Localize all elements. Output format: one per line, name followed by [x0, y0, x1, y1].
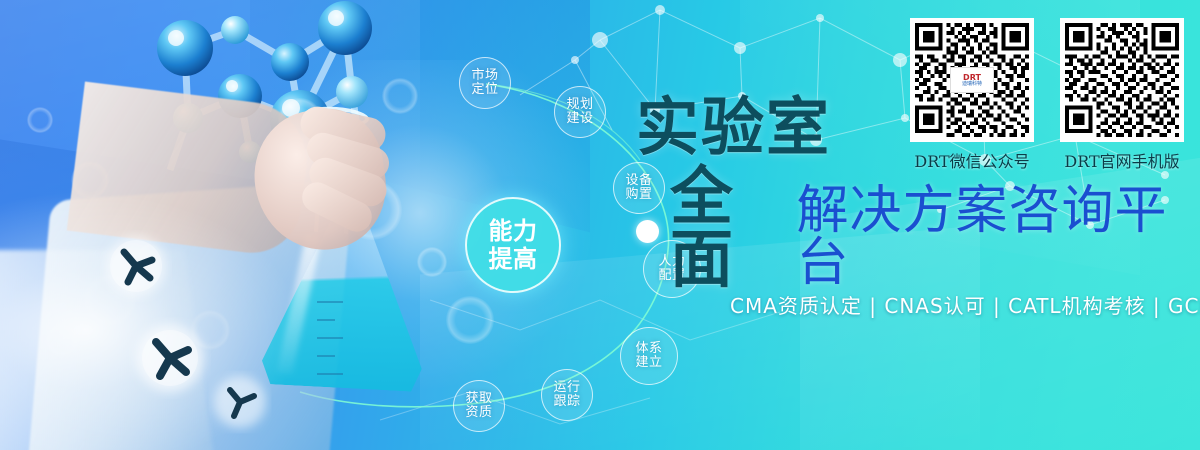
bubble-system-establishment[interactable]: 体系 建立 — [620, 327, 678, 385]
bullet-dot-icon — [636, 220, 659, 243]
bubble-line-1: 获取 — [465, 392, 492, 406]
qr-label-wechat: DRT微信公众号 — [914, 148, 1029, 172]
qr-code-group: DRT 迪瑞科特 DRT微信公众号 — [910, 18, 1184, 172]
qr-matrix — [1065, 23, 1179, 137]
bubble-line-1: 运行 — [553, 381, 580, 395]
headline-subtitle: 解决方案咨询平台 — [796, 185, 1196, 289]
bubble-line-1: 能力 — [489, 217, 538, 245]
lab-solution-banner: 市场 定位 规划 建设 设备 购置 人力 配置 体系 建立 运行 跟踪 获取 资… — [0, 0, 1200, 450]
molecule-icon-cluster — [100, 230, 320, 450]
bubble-line-2: 提高 — [489, 245, 538, 273]
bubble-obtain-qualification[interactable]: 获取 资质 — [453, 380, 505, 432]
qr-code-website[interactable] — [1060, 18, 1184, 142]
bubble-line-1: 规划 — [566, 98, 593, 112]
bubble-line-1: 市场 — [471, 69, 498, 83]
bubble-line-2: 资质 — [465, 406, 492, 420]
bubble-line-2: 跟踪 — [553, 395, 580, 409]
qr-item-website[interactable]: DRT官网手机版 — [1060, 18, 1184, 172]
bubble-line-2: 定位 — [471, 83, 498, 97]
qr-code-wechat[interactable]: DRT 迪瑞科特 — [910, 18, 1034, 142]
qr-label-website: DRT官网手机版 — [1064, 148, 1179, 172]
bubble-planning-construction[interactable]: 规划 建设 — [554, 86, 606, 138]
logo-company-name: 迪瑞科特 — [962, 82, 982, 87]
bubble-line-1: 体系 — [635, 342, 662, 356]
qr-item-wechat[interactable]: DRT 迪瑞科特 DRT微信公众号 — [910, 18, 1034, 172]
headline-line-2: 全面 解决方案咨询平台 — [636, 165, 1196, 291]
bubble-line-2: 建设 — [566, 112, 593, 126]
bubble-operation-tracking[interactable]: 运行 跟踪 — [541, 369, 593, 421]
bubble-line-2: 建立 — [635, 356, 662, 370]
headline-emphasis: 全面 — [670, 165, 792, 291]
certification-list: CMA资质认定 | CNAS认可 | CATL机构考核 | GCP认证 | 6S… — [730, 290, 1200, 319]
qr-center-logo: DRT 迪瑞科特 — [950, 67, 994, 93]
bubble-market-positioning[interactable]: 市场 定位 — [459, 57, 511, 109]
bubble-capability-improvement[interactable]: 能力 提高 — [465, 197, 561, 293]
